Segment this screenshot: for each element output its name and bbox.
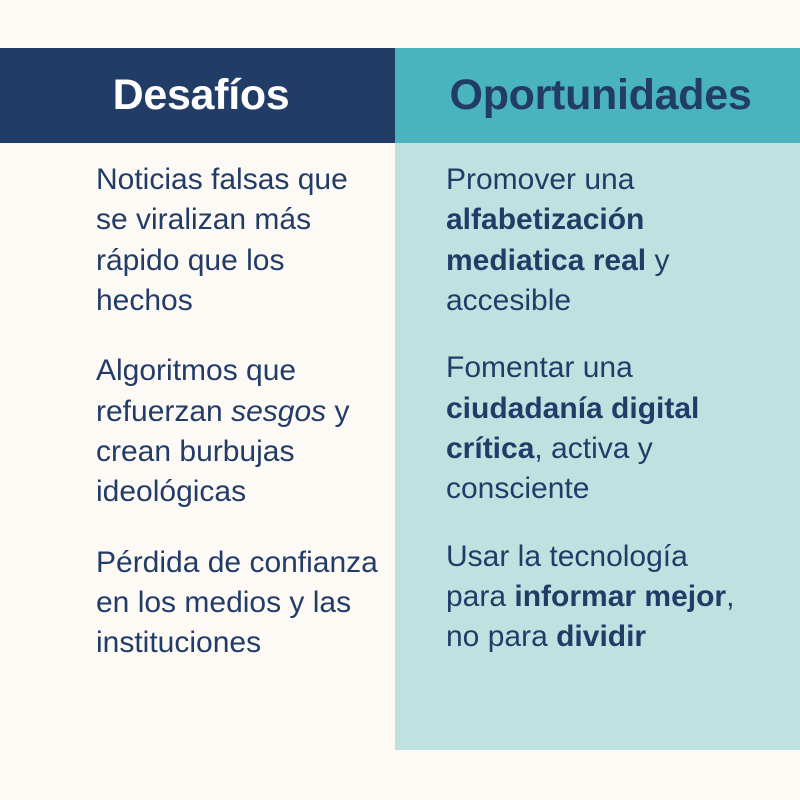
header-title-desafios: Desafíos <box>113 74 290 117</box>
list-item: Promover una alfabetización mediatica re… <box>446 160 751 321</box>
header-desafios: Desafíos <box>0 48 398 143</box>
column-desafios: Desafíos Noticias falsas que se viraliza… <box>0 0 398 800</box>
list-item: Usar la tecnología para informar mejor, … <box>446 537 751 658</box>
list-item: Noticias falsas que se viralizan más ráp… <box>96 160 382 321</box>
header-title-oportunidades: Oportunidades <box>450 74 752 117</box>
list-item: Pérdida de confianza en los medios y las… <box>96 543 382 664</box>
item-list-oportunidades: Promover una alfabetización mediatica re… <box>395 160 800 685</box>
list-item: Algoritmos que refuerzan sesgos y crean … <box>96 351 382 512</box>
list-item: Fomentar una ciudadanía digital crítica,… <box>446 348 751 509</box>
item-list-desafios: Noticias falsas que se viralizan más ráp… <box>0 160 398 694</box>
comparison-board: Desafíos Noticias falsas que se viraliza… <box>0 0 800 800</box>
column-oportunidades: Oportunidades Promover una alfabetizació… <box>395 0 800 800</box>
header-oportunidades: Oportunidades <box>395 48 800 143</box>
